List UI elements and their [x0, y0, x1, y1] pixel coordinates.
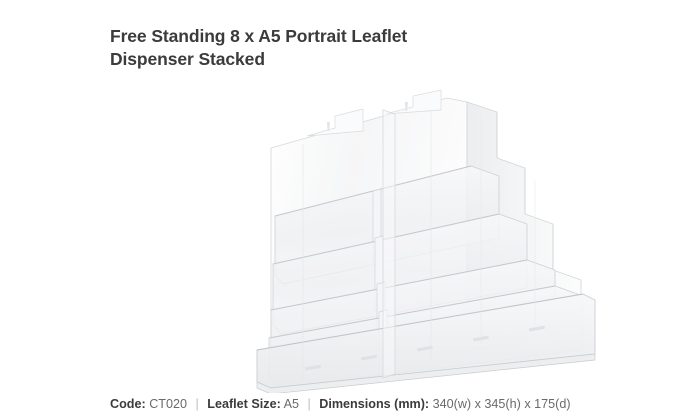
spec-value-leaflet-size: A5	[284, 397, 299, 411]
spec-separator-2: |	[302, 397, 315, 411]
leaflet-dispenser-illustration	[235, 88, 625, 393]
product-spec-line: Code: CT020 | Leaflet Size: A5 | Dimensi…	[110, 396, 571, 412]
spec-value-dimensions: 340(w) x 345(h) x 175(d)	[433, 397, 571, 411]
spec-item-code: Code: CT020	[110, 397, 191, 411]
spec-label-leaflet-size: Leaflet Size:	[207, 397, 280, 411]
product-image	[235, 88, 625, 393]
spec-label-dimensions: Dimensions (mm):	[319, 397, 429, 411]
spec-item-leaflet-size: Leaflet Size: A5	[207, 397, 302, 411]
spec-value-code: CT020	[149, 397, 187, 411]
page-title-line-2: Dispenser Stacked	[110, 48, 530, 71]
page-title: Free Standing 8 x A5 Portrait Leaflet Di…	[110, 25, 530, 71]
dispenser-centre-spine	[383, 110, 395, 378]
spec-item-dimensions: Dimensions (mm): 340(w) x 345(h) x 175(d…	[319, 397, 570, 411]
page-title-line-1: Free Standing 8 x A5 Portrait Leaflet	[110, 25, 530, 48]
spec-separator-1: |	[191, 397, 204, 411]
spec-label-code: Code:	[110, 397, 146, 411]
